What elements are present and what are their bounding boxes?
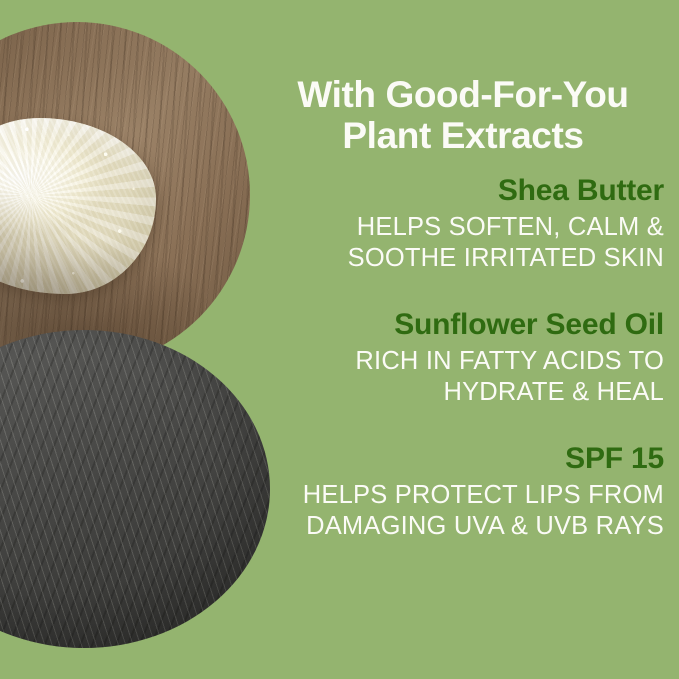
headline-line-2: Plant Extracts [262, 115, 664, 156]
shea-butter-photo [0, 22, 250, 368]
ingredient-block-shea-butter: Shea Butter HELPS SOFTEN, CALM & SOOTHE … [262, 173, 664, 273]
description-line-2: HYDRATE & HEAL [262, 377, 664, 408]
ingredient-description-sunflower-seed-oil: RICH IN FATTY ACIDS TO HYDRATE & HEAL [262, 346, 664, 407]
description-line-2: SOOTHE IRRITATED SKIN [262, 243, 664, 274]
description-line-2: DAMAGING UVA & UVB RAYS [262, 511, 664, 542]
description-line-1: HELPS SOFTEN, CALM & [262, 212, 664, 243]
plant-extracts-infographic: With Good-For-You Plant Extracts Shea Bu… [0, 0, 679, 679]
text-column: With Good-For-You Plant Extracts Shea Bu… [262, 0, 664, 679]
ingredient-block-spf-15: SPF 15 HELPS PROTECT LIPS FROM DAMAGING … [262, 441, 664, 541]
wood-shadow-overlay [0, 22, 250, 368]
description-line-1: RICH IN FATTY ACIDS TO [262, 346, 664, 377]
seed-vignette-overlay [0, 330, 270, 648]
ingredient-name-sunflower-seed-oil: Sunflower Seed Oil [262, 307, 664, 343]
ingredient-description-spf-15: HELPS PROTECT LIPS FROM DAMAGING UVA & U… [262, 480, 664, 541]
ingredient-name-spf-15: SPF 15 [262, 441, 664, 477]
ingredient-name-shea-butter: Shea Butter [262, 173, 664, 209]
sunflower-seeds-photo [0, 330, 270, 648]
ingredient-block-sunflower-seed-oil: Sunflower Seed Oil RICH IN FATTY ACIDS T… [262, 307, 664, 407]
description-line-1: HELPS PROTECT LIPS FROM [262, 480, 664, 511]
headline-line-1: With Good-For-You [262, 74, 664, 115]
page-title: With Good-For-You Plant Extracts [262, 74, 664, 157]
ingredient-description-shea-butter: HELPS SOFTEN, CALM & SOOTHE IRRITATED SK… [262, 212, 664, 273]
